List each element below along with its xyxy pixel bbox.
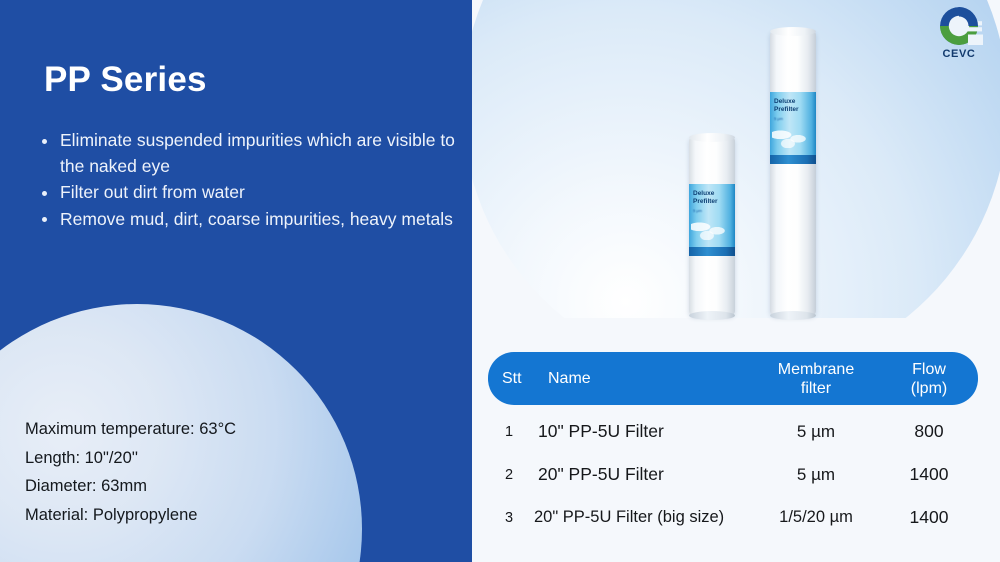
filter-cartridge-10inch: Deluxe Prefilter 5 µm [689,136,735,316]
table-row: 1 10" PP-5U Filter 5 µm 800 [488,411,978,452]
spec-max-temperature: Maximum temperature: 63°C [25,415,355,444]
product-image: Deluxe Prefilter 5 µm Deluxe Prefilter 5… [660,18,870,318]
list-item: Filter out dirt from water [56,180,468,206]
cell-stt: 3 [488,510,530,526]
cartridge-cap-top [770,27,816,36]
feature-bullet-list: Eliminate suspended impurities which are… [32,128,468,233]
cell-name: 10" PP-5U Filter [530,421,752,442]
spec-length: Length: 10"/20'' [25,444,355,473]
spec-diameter: Diameter: 63mm [25,472,355,501]
table-header-membrane-line1: Membrane [752,360,880,379]
table-header-name: Name [530,369,752,388]
slide-root: PP Series Eliminate suspended impurities… [0,0,1000,562]
cartridge-label-sub: 5 µm [693,208,733,214]
cell-flow: 1400 [880,464,978,485]
table-header-membrane-filter: Membrane filter [752,360,880,398]
specifications-block: Maximum temperature: 63°C Length: 10"/20… [25,415,355,529]
cartridge-label-title: Deluxe Prefilter [774,98,814,114]
page-title: PP Series [44,62,207,97]
table-header-flow-line1: Flow [880,360,978,379]
cell-flow: 800 [880,421,978,442]
spec-material: Material: Polypropylene [25,501,355,530]
cartridge-cap-top [689,133,735,142]
label-footer-band [770,155,816,164]
cell-stt: 1 [488,424,530,440]
table-header-row: Stt Name Membrane filter Flow (lpm) [488,352,978,405]
cartridge-label: Deluxe Prefilter 5 µm [770,92,816,164]
cell-membrane: 1/5/20 µm [752,508,880,527]
cartridge-cap-bottom [689,311,735,320]
list-item: Eliminate suspended impurities which are… [56,128,468,179]
cartridge-label-title: Deluxe Prefilter [693,190,733,206]
cell-membrane: 5 µm [752,465,880,485]
water-wave-graphic [772,126,814,148]
list-item: Remove mud, dirt, coarse impurities, hea… [56,207,468,233]
logo-text: CEVC [928,48,990,60]
cartridge-cap-bottom [770,311,816,320]
table-header-flow-line2: (lpm) [880,379,978,398]
product-spec-table: Stt Name Membrane filter Flow (lpm) 1 10… [488,352,978,538]
cell-membrane: 5 µm [752,422,880,442]
cell-name: 20" PP-5U Filter [530,464,752,485]
left-panel: PP Series Eliminate suspended impurities… [0,0,472,562]
table-row: 2 20" PP-5U Filter 5 µm 1400 [488,454,978,495]
cartridge-label: Deluxe Prefilter 5 µm [689,184,735,256]
cell-stt: 2 [488,467,530,483]
table-header-membrane-line2: filter [752,379,880,398]
table-row: 3 20" PP-5U Filter (big size) 1/5/20 µm … [488,497,978,538]
water-wave-graphic [691,218,733,240]
logo-e-icon [928,4,990,50]
table-header-stt: Stt [488,369,530,388]
label-footer-band [689,247,735,256]
table-header-flow: Flow (lpm) [880,360,978,398]
filter-cartridge-20inch: Deluxe Prefilter 5 µm [770,30,816,316]
cell-name: 20" PP-5U Filter (big size) [530,508,752,527]
cevc-logo: CEVC [928,4,990,68]
cartridge-label-sub: 5 µm [774,116,814,122]
cell-flow: 1400 [880,507,978,528]
